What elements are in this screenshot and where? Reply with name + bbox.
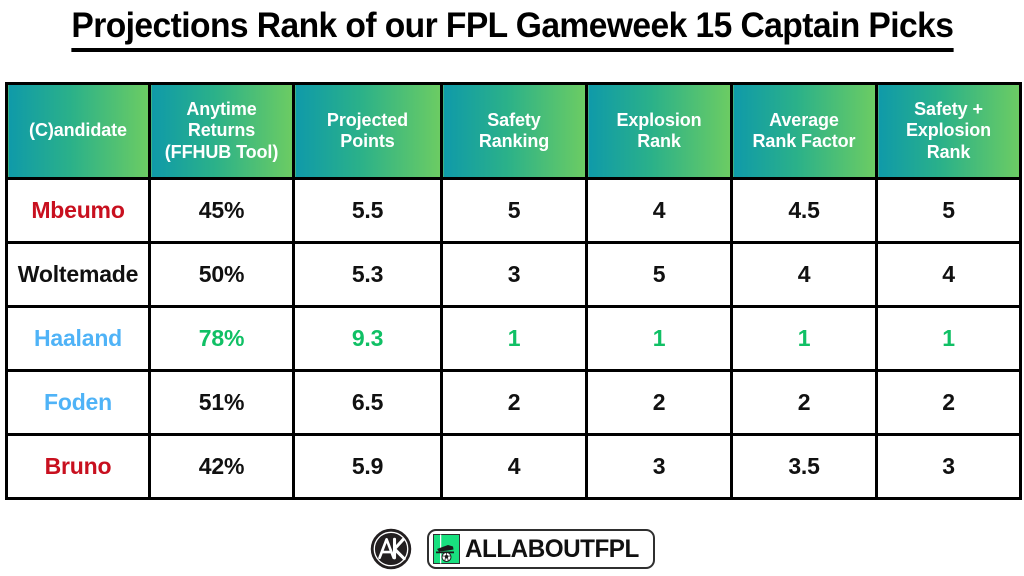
cell-projected-points: 6.5 [294,371,442,435]
cell-average-rank-factor: 1 [732,307,877,371]
cell-safety-ranking: 4 [442,435,587,499]
column-header-average-rank-factor: Average Rank Factor [732,84,877,179]
column-header-line: Rank [592,131,726,152]
column-header-line: Returns [155,120,288,141]
cell-candidate-name: Mbeumo [7,179,150,243]
column-header-anytime-returns: Anytime Returns (FFHUB Tool) [150,84,294,179]
brand-name-label: ALLABOUTFPL [465,537,639,562]
column-header-line: Explosion [882,120,1015,141]
cell-projected-points: 5.3 [294,243,442,307]
allaboutfpl-badge: ALLABOUTFPL [427,529,655,569]
page-title-container: Projections Rank of our FPL Gameweek 15 … [0,6,1024,52]
cell-average-rank-factor: 4 [732,243,877,307]
cell-safety-explosion-rank: 4 [877,243,1021,307]
column-header-line: Average [737,110,871,131]
captain-picks-table: (C)andidate Anytime Returns (FFHUB Tool)… [5,82,1022,500]
cell-anytime-returns: 78% [150,307,294,371]
cell-safety-explosion-rank: 5 [877,179,1021,243]
cell-explosion-rank: 5 [587,243,732,307]
cell-candidate-name: Foden [7,371,150,435]
table-row: Foden 51% 6.5 2 2 2 2 [7,371,1021,435]
table-row: Mbeumo 45% 5.5 5 4 4.5 5 [7,179,1021,243]
cell-candidate-name: Haaland [7,307,150,371]
cell-safety-ranking: 1 [442,307,587,371]
column-header-line: Points [299,131,436,152]
cell-explosion-rank: 4 [587,179,732,243]
footer-branding: ALLABOUTFPL [0,527,1024,571]
column-header-line: Safety [447,110,581,131]
table-header: (C)andidate Anytime Returns (FFHUB Tool)… [7,84,1021,179]
table-row: Haaland 78% 9.3 1 1 1 1 [7,307,1021,371]
column-header-line: (FFHUB Tool) [155,142,288,163]
table-body: Mbeumo 45% 5.5 5 4 4.5 5 Woltemade 50% 5… [7,179,1021,499]
column-header-projected-points: Projected Points [294,84,442,179]
column-header-line: Ranking [447,131,581,152]
table-row: Woltemade 50% 5.3 3 5 4 4 [7,243,1021,307]
cell-anytime-returns: 51% [150,371,294,435]
cell-explosion-rank: 1 [587,307,732,371]
cell-safety-explosion-rank: 1 [877,307,1021,371]
cell-safety-ranking: 5 [442,179,587,243]
cell-anytime-returns: 50% [150,243,294,307]
ak-circle-logo-icon [369,527,413,571]
table-header-row: (C)andidate Anytime Returns (FFHUB Tool)… [7,84,1021,179]
infographic-page: Projections Rank of our FPL Gameweek 15 … [0,0,1024,576]
column-header-line: Anytime [155,99,288,120]
cell-explosion-rank: 2 [587,371,732,435]
cell-average-rank-factor: 2 [732,371,877,435]
column-header-line: Safety + [882,99,1015,120]
column-header-safety-explosion-rank: Safety + Explosion Rank [877,84,1021,179]
captain-picks-table-container: (C)andidate Anytime Returns (FFHUB Tool)… [5,82,1019,500]
cell-safety-ranking: 2 [442,371,587,435]
cell-candidate-name: Bruno [7,435,150,499]
column-header-candidate: (C)andidate [7,84,150,179]
cell-explosion-rank: 3 [587,435,732,499]
cell-average-rank-factor: 4.5 [732,179,877,243]
page-title: Projections Rank of our FPL Gameweek 15 … [71,6,953,52]
cell-projected-points: 5.9 [294,435,442,499]
cell-safety-explosion-rank: 3 [877,435,1021,499]
football-boot-icon [433,534,460,564]
column-header-line: (C)andidate [12,120,144,141]
column-header-line: Projected [299,110,436,131]
cell-safety-explosion-rank: 2 [877,371,1021,435]
column-header-explosion-rank: Explosion Rank [587,84,732,179]
cell-anytime-returns: 42% [150,435,294,499]
cell-anytime-returns: 45% [150,179,294,243]
column-header-line: Rank [882,142,1015,163]
column-header-line: Explosion [592,110,726,131]
cell-candidate-name: Woltemade [7,243,150,307]
column-header-line: Rank Factor [737,131,871,152]
cell-projected-points: 5.5 [294,179,442,243]
cell-safety-ranking: 3 [442,243,587,307]
cell-average-rank-factor: 3.5 [732,435,877,499]
column-header-safety-ranking: Safety Ranking [442,84,587,179]
cell-projected-points: 9.3 [294,307,442,371]
table-row: Bruno 42% 5.9 4 3 3.5 3 [7,435,1021,499]
